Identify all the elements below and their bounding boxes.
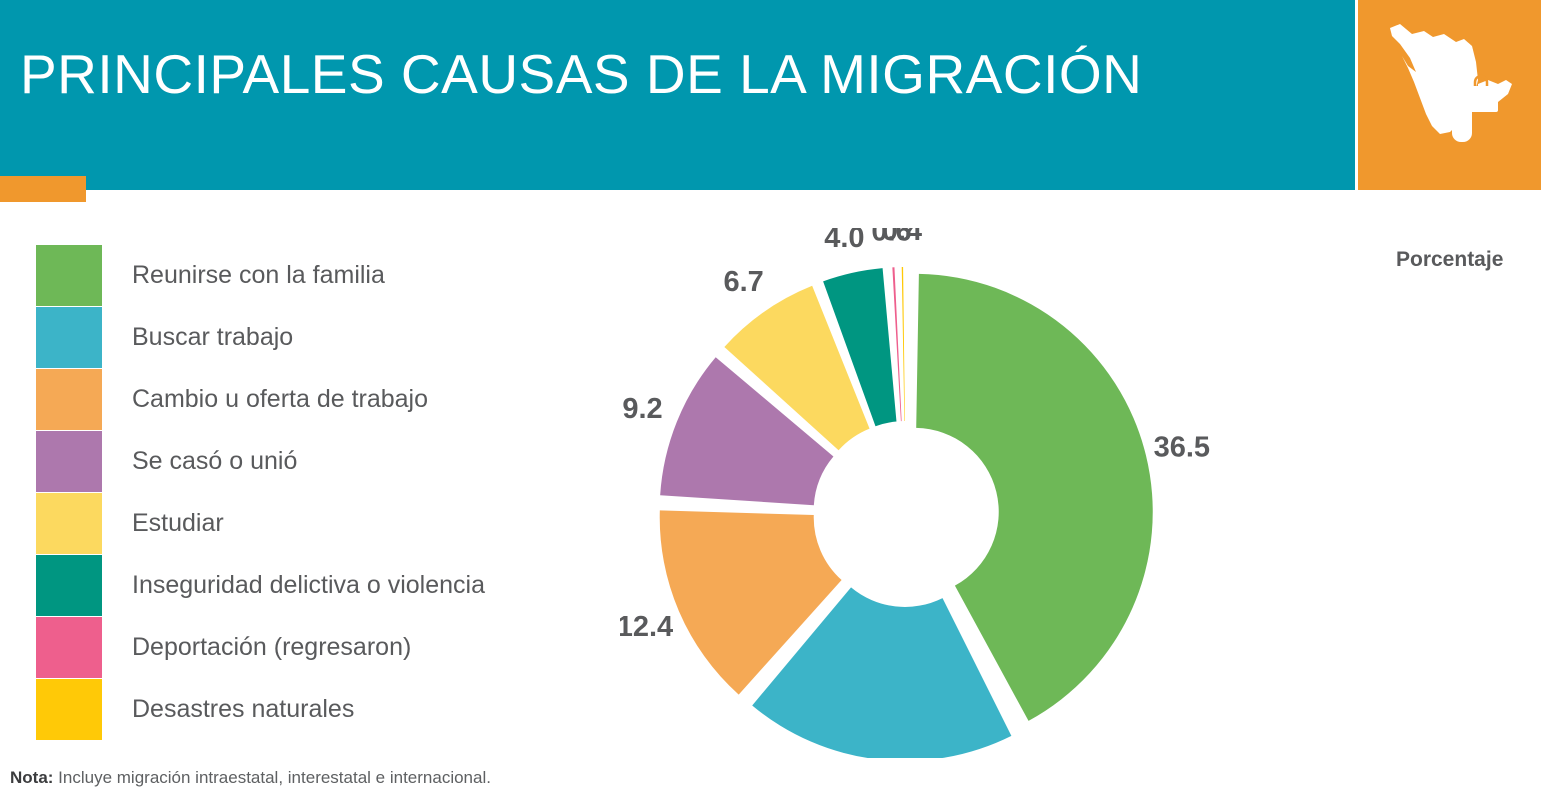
- legend-swatch-reunirse-con-la-familia: [36, 245, 102, 306]
- legend-label: Buscar trabajo: [132, 307, 293, 368]
- legend-item[interactable]: Desastres naturales: [36, 679, 596, 741]
- legend-item[interactable]: Cambio u oferta de trabajo: [36, 369, 596, 431]
- slice-value-label: 0.4: [882, 228, 922, 247]
- legend-swatch-se-caso-o-unio: [36, 431, 102, 492]
- legend-label: Cambio u oferta de trabajo: [132, 369, 428, 430]
- legend-label: Estudiar: [132, 493, 224, 554]
- legend-swatch-desastres-naturales: [36, 679, 102, 740]
- donut-chart-svg: 36.516.412.49.26.74.00.60.4: [620, 228, 1270, 758]
- mexico-map-migrant-briefcase-icon: [1386, 22, 1516, 162]
- donut-chart: 36.516.412.49.26.74.00.60.4: [620, 228, 1270, 758]
- legend-item[interactable]: Inseguridad delictiva o violencia: [36, 555, 596, 617]
- donut-slice[interactable]: [902, 267, 905, 421]
- legend-label: Desastres naturales: [132, 679, 354, 740]
- slice-value-label: 4.0: [824, 228, 864, 254]
- slice-value-label: 36.5: [1154, 431, 1210, 463]
- header-logo-panel: [1358, 0, 1541, 190]
- footnote-prefix: Nota:: [10, 768, 53, 787]
- slice-value-label: 9.2: [622, 393, 662, 425]
- chart-legend: Reunirse con la familia Buscar trabajo C…: [36, 245, 596, 741]
- chart-footnote: Nota: Incluye migración intraestatal, in…: [10, 768, 491, 788]
- legend-label: Deportación (regresaron): [132, 617, 411, 678]
- slice-value-label: 6.7: [723, 266, 763, 298]
- page-title: PRINCIPALES CAUSAS DE LA MIGRACIÓN: [20, 38, 1142, 110]
- legend-label: Reunirse con la familia: [132, 245, 385, 306]
- legend-item[interactable]: Se casó o unió: [36, 431, 596, 493]
- legend-item[interactable]: Reunirse con la familia: [36, 245, 596, 307]
- legend-swatch-deportacion-regresaron: [36, 617, 102, 678]
- accent-tab: [0, 176, 86, 202]
- legend-label: Se casó o unió: [132, 431, 297, 492]
- chart-unit-caption: Porcentaje: [1396, 248, 1503, 272]
- slice-value-label: 12.4: [620, 611, 673, 643]
- legend-item[interactable]: Estudiar: [36, 493, 596, 555]
- legend-swatch-estudiar: [36, 493, 102, 554]
- legend-swatch-cambio-u-oferta-de-trabajo: [36, 369, 102, 430]
- legend-item[interactable]: Buscar trabajo: [36, 307, 596, 369]
- legend-swatch-inseguridad-delictiva-o-violencia: [36, 555, 102, 616]
- legend-label: Inseguridad delictiva o violencia: [132, 555, 485, 616]
- legend-item[interactable]: Deportación (regresaron): [36, 617, 596, 679]
- footnote-text: Incluye migración intraestatal, interest…: [53, 768, 491, 787]
- legend-swatch-buscar-trabajo: [36, 307, 102, 368]
